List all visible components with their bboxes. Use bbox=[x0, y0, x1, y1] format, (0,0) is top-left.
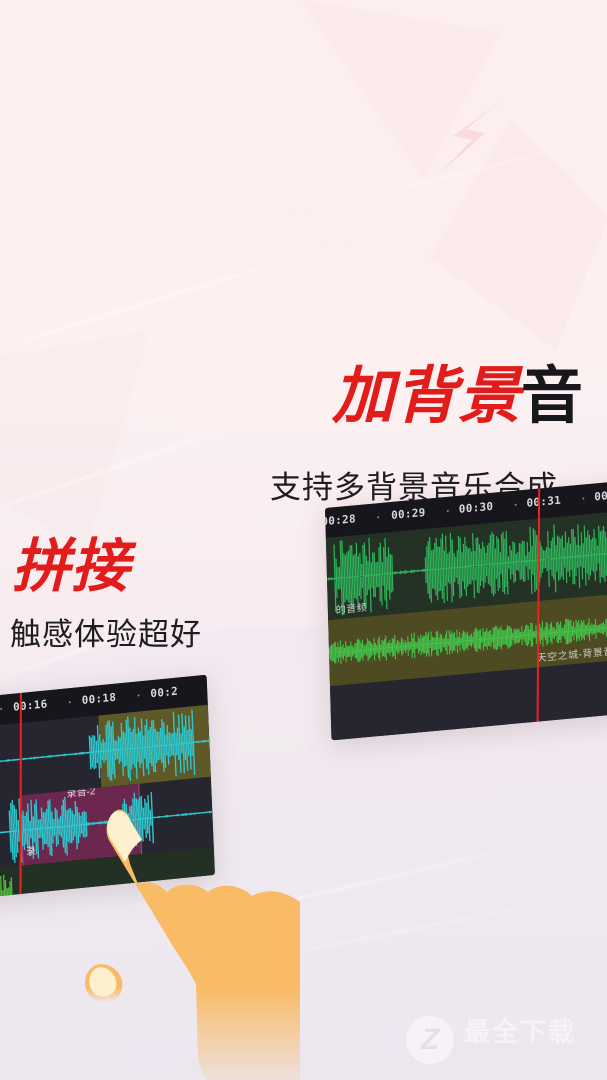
watermark: Z 最全下载 WWW.ZQGD.NET bbox=[406, 1016, 593, 1064]
headline-right-black: 音 bbox=[521, 362, 584, 431]
ruler-tick: 00:16 bbox=[13, 697, 48, 713]
ruler-dot bbox=[582, 497, 584, 499]
ruler-dot bbox=[0, 708, 2, 710]
watermark-logo-letter: Z bbox=[421, 1025, 439, 1055]
track-label-top-1: 的音频 bbox=[336, 599, 368, 617]
watermark-text: 最全下载 WWW.ZQGD.NET bbox=[464, 1019, 593, 1061]
headline-left: 拼接 bbox=[12, 538, 130, 596]
ruler-tick: 00:2 bbox=[150, 685, 178, 701]
subtitle-left: 触感体验超好 bbox=[10, 609, 202, 654]
ruler-dot bbox=[137, 694, 139, 696]
audio-editor-panel-top[interactable]: 00:28 00:29 00:30 00:31 00:32 00 的音频 天空之… bbox=[325, 478, 607, 740]
ruler-tick: 00:28 bbox=[325, 512, 356, 528]
ruler-dot bbox=[447, 510, 449, 512]
ruler-tick: 00:32 bbox=[594, 487, 607, 503]
headline-right: 加背景音 bbox=[332, 366, 584, 428]
ruler-dot bbox=[515, 504, 517, 506]
ruler-tick: 00:31 bbox=[526, 494, 561, 510]
ruler-dot bbox=[377, 516, 379, 518]
ruler-tick: 00:30 bbox=[459, 500, 494, 516]
ruler-dot bbox=[69, 701, 71, 703]
pointing-hand-icon bbox=[70, 806, 300, 1080]
playhead-bottom[interactable] bbox=[20, 693, 22, 894]
watermark-url: WWW.ZQGD.NET bbox=[464, 1050, 593, 1061]
watermark-logo-icon: Z bbox=[406, 1016, 454, 1064]
clip-label-2: 录 bbox=[26, 842, 37, 858]
watermark-title: 最全下载 bbox=[464, 1019, 593, 1045]
ruler-tick: 00:18 bbox=[81, 691, 116, 707]
headline-right-red: 加背景 bbox=[332, 362, 521, 431]
promo-screenshot: 加背景音 支持多背景音乐合成， 拼接 触感体验超好 00:28 00:29 00… bbox=[0, 0, 607, 1080]
ruler-tick: 00:29 bbox=[391, 506, 426, 522]
